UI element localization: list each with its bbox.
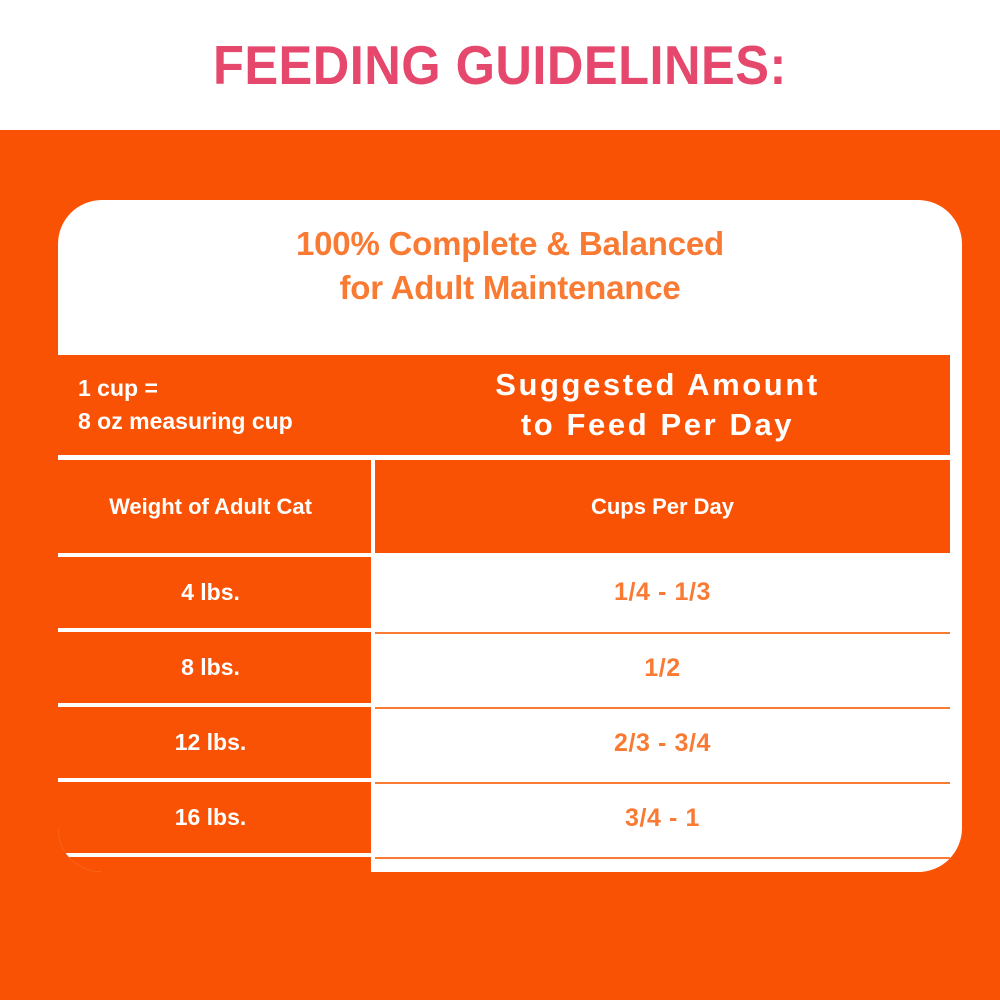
subtitle-line-2: for Adult Maintenance bbox=[58, 266, 962, 310]
table-row: 4 lbs. 1/4 - 1/3 bbox=[58, 557, 950, 628]
orange-background: 100% Complete & Balanced for Adult Maint… bbox=[0, 130, 1000, 1000]
page-title: FEEDING GUIDELINES: bbox=[213, 38, 787, 93]
cell-cups: 1/4 - 1/3 bbox=[375, 557, 950, 628]
guidelines-card: 100% Complete & Balanced for Adult Maint… bbox=[58, 200, 962, 872]
cell-weight: 4 lbs. bbox=[58, 557, 371, 628]
cup-equivalence-note: 1 cup = 8 oz measuring cup bbox=[58, 372, 375, 437]
card-subtitle: 100% Complete & Balanced for Adult Maint… bbox=[58, 222, 962, 309]
cell-weight: 16 lbs. bbox=[58, 782, 371, 853]
table-row: 12 lbs. 2/3 - 3/4 bbox=[58, 707, 950, 778]
cell-cups: 1/2 bbox=[375, 632, 950, 703]
column-header-cups: Cups Per Day bbox=[375, 460, 950, 553]
table-row: 8 lbs. 1/2 bbox=[58, 632, 950, 703]
table-row: 22 lbs. 1 - 1 1/4 bbox=[58, 857, 950, 872]
cell-weight: 22 lbs. bbox=[58, 857, 371, 872]
subtitle-line-1: 100% Complete & Balanced bbox=[58, 222, 962, 266]
cup-note-line-1: 1 cup = bbox=[78, 372, 375, 405]
table-column-headers: Weight of Adult Cat Cups Per Day bbox=[58, 460, 950, 553]
suggested-amount-line-2: to Feed Per Day bbox=[375, 405, 940, 445]
suggested-amount-heading: Suggested Amount to Feed Per Day bbox=[375, 365, 950, 446]
feeding-guidelines-panel: FEEDING GUIDELINES: 100% Complete & Bala… bbox=[0, 0, 1000, 1000]
feeding-table: 1 cup = 8 oz measuring cup Suggested Amo… bbox=[58, 355, 950, 872]
cell-weight: 12 lbs. bbox=[58, 707, 371, 778]
suggested-amount-line-1: Suggested Amount bbox=[375, 365, 940, 405]
table-header-top: 1 cup = 8 oz measuring cup Suggested Amo… bbox=[58, 355, 950, 455]
cell-cups: 3/4 - 1 bbox=[375, 782, 950, 853]
cup-note-line-2: 8 oz measuring cup bbox=[78, 405, 375, 438]
column-header-weight: Weight of Adult Cat bbox=[58, 460, 371, 553]
title-band: FEEDING GUIDELINES: bbox=[0, 0, 1000, 130]
cell-weight: 8 lbs. bbox=[58, 632, 371, 703]
table-row: 16 lbs. 3/4 - 1 bbox=[58, 782, 950, 853]
cell-cups: 2/3 - 3/4 bbox=[375, 707, 950, 778]
cell-cups: 1 - 1 1/4 bbox=[375, 857, 950, 872]
